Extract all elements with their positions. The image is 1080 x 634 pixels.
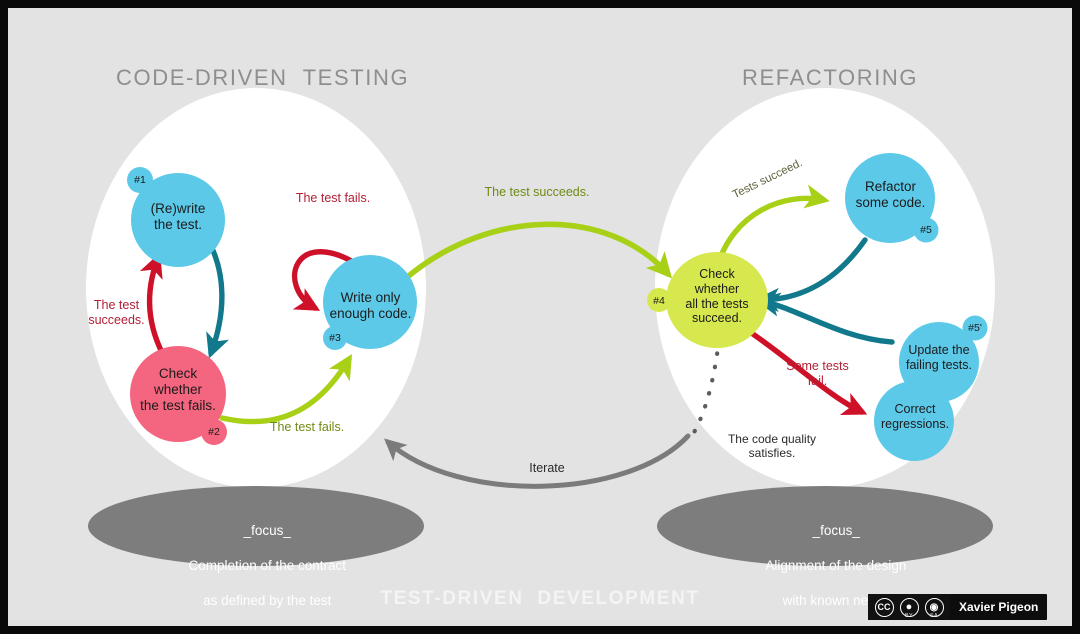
cc-attribution-badge[interactable]: CC ● BY ◉ SA Xavier Pigeon [868, 594, 1047, 620]
node-check-fails-label: Checkwhetherthe test fails. [123, 366, 233, 414]
section-title-left: CODE-DRIVEN TESTING [116, 65, 409, 91]
main-title: TEST-DRIVEN DEVELOPMENT [240, 588, 840, 610]
node-check-all-label: Checkwhetherall the testssucceed. [669, 267, 765, 326]
cc-icon-group: CC ● BY ◉ SA [868, 594, 950, 620]
author-name: Xavier Pigeon [950, 600, 1047, 614]
cc-by-label: BY [898, 613, 920, 619]
node-write-code-badge: #3 [322, 332, 348, 344]
right-focus-line1: Alignment of the design [765, 558, 906, 573]
cc-logo-slot: CC [873, 594, 895, 620]
label-code-quality: The code qualitysatisfies. [707, 432, 837, 460]
arrow-bridge-test-succeeds [405, 224, 668, 279]
node-check-all-badge: #4 [646, 295, 672, 307]
node-rewrite-label: (Re)writethe test. [128, 201, 228, 233]
cc-logo-icon: CC [875, 598, 894, 617]
label-iterate: Iterate [502, 461, 592, 476]
node-update-tests-label: Update thefailing tests. [889, 343, 989, 373]
section-title-right: REFACTORING [742, 65, 918, 91]
node-refactor-label: Refactorsome code. [837, 179, 944, 211]
label-bridge-test-succeeds: The test succeeds. [467, 185, 607, 200]
node-rewrite-badge: #1 [127, 174, 153, 186]
label-test-fails-loop: The test fails. [273, 191, 393, 206]
node-update-tests-badge: #5' [962, 322, 988, 334]
label-some-tests-fail: Some testsfail. [770, 359, 865, 389]
left-focus-line1: Completion of the contract [188, 558, 346, 573]
label-test-fails-bottom: The test fails. [247, 420, 367, 435]
node-check-fails-badge: #2 [201, 426, 227, 438]
cc-sa-label: SA [923, 613, 945, 619]
label-test-succeeds-left: The testsucceeds. [64, 298, 169, 328]
left-focus-heading: _focus_ [244, 523, 291, 538]
node-refactor-badge: #5 [913, 224, 939, 236]
diagram-frame: CODE-DRIVEN TESTING REFACTORING (Re)writ… [0, 0, 1080, 634]
diagram-canvas: CODE-DRIVEN TESTING REFACTORING (Re)writ… [8, 8, 1072, 626]
right-focus-heading: _focus_ [813, 523, 860, 538]
cc-by-slot: ● BY [898, 594, 920, 620]
cc-sa-slot: ◉ SA [923, 594, 945, 620]
node-write-code-label: Write onlyenough code. [318, 290, 423, 322]
node-correct-regressions-label: Correctregressions. [865, 402, 965, 432]
